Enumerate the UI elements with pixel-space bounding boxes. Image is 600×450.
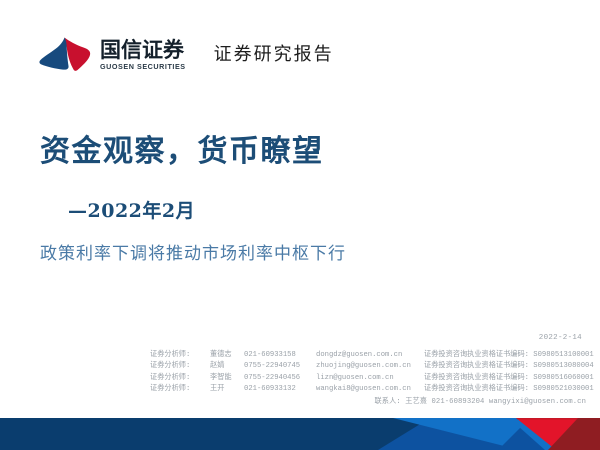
logo-wordmark: 国信证券 GUOSEN SECURITIES bbox=[100, 39, 186, 71]
page-title: 资金观察，货币瞭望 bbox=[40, 126, 324, 170]
analyst-email[interactable]: lizn@guosen.com.cn bbox=[316, 373, 424, 384]
analyst-role: 证券分析师: bbox=[150, 373, 210, 384]
contact-name: 王艺熹 bbox=[405, 398, 427, 406]
page-subtitle: —2022年2月 bbox=[68, 196, 195, 223]
analyst-name: 王开 bbox=[210, 384, 244, 395]
analyst-phone: 0755-22940456 bbox=[244, 373, 316, 384]
analyst-email[interactable]: wangkai8@guosen.com.cn bbox=[316, 384, 424, 395]
guosen-mountain-logo-icon bbox=[38, 35, 94, 75]
analyst-cert-label: 证券投资咨询执业资格证书编码: bbox=[424, 385, 529, 393]
bottom-decorative-band bbox=[0, 418, 600, 450]
analyst-cert: 证券投资咨询执业资格证书编码: S0980513080004 bbox=[424, 361, 594, 372]
analyst-row: 证券分析师: 李智能 0755-22940456 lizn@guosen.com… bbox=[150, 373, 586, 384]
logo-name-cn: 国信证券 bbox=[100, 39, 186, 61]
analyst-cert-label: 证券投资咨询执业资格证书编码: bbox=[424, 362, 529, 370]
analyst-role: 证券分析师: bbox=[150, 384, 210, 395]
analyst-cert-number: S0980521030001 bbox=[533, 385, 593, 393]
analyst-row: 证券分析师: 董德志 021-60933158 dongdz@guosen.co… bbox=[150, 350, 586, 361]
analyst-phone: 0755-22940745 bbox=[244, 361, 316, 372]
logo-name-en: GUOSEN SECURITIES bbox=[100, 62, 186, 71]
analyst-cert-number: S0980513080004 bbox=[533, 362, 593, 370]
analyst-cert: 证券投资咨询执业资格证书编码: S0980513100001 bbox=[424, 350, 594, 361]
analyst-name: 董德志 bbox=[210, 350, 244, 361]
analyst-row: 证券分析师: 王开 021-60933132 wangkai8@guosen.c… bbox=[150, 384, 586, 395]
analyst-role: 证券分析师: bbox=[150, 350, 210, 361]
analyst-email[interactable]: dongdz@guosen.com.cn bbox=[316, 350, 424, 361]
analyst-role: 证券分析师: bbox=[150, 361, 210, 372]
analyst-phone: 021-60933158 bbox=[244, 350, 316, 361]
contact-phone: 021-60893204 bbox=[432, 398, 485, 406]
analyst-cert-number: S0980516060001 bbox=[533, 374, 593, 382]
analyst-email[interactable]: zhuojing@guosen.com.cn bbox=[316, 361, 424, 372]
analyst-row: 证券分析师: 赵婧 0755-22940745 zhuojing@guosen.… bbox=[150, 361, 586, 372]
contact-role: 联系人: bbox=[375, 398, 401, 406]
analyst-cert: 证券投资咨询执业资格证书编码: S0980516060001 bbox=[424, 373, 594, 384]
analyst-list: 证券分析师: 董德志 021-60933158 dongdz@guosen.co… bbox=[150, 350, 586, 396]
cover-header: 国信证券 GUOSEN SECURITIES 证券研究报告 bbox=[38, 33, 334, 77]
analyst-name: 李智能 bbox=[210, 373, 244, 384]
contact-row: 联系人: 王艺熹 021-60893204 wangyixi@guosen.co… bbox=[375, 396, 586, 406]
page-tagline: 政策利率下调将推动市场利率中枢下行 bbox=[40, 239, 346, 264]
contact-email[interactable]: wangyixi@guosen.com.cn bbox=[489, 398, 586, 406]
analyst-cert: 证券投资咨询执业资格证书编码: S0980521030001 bbox=[424, 384, 594, 395]
report-kind-label: 证券研究报告 bbox=[214, 40, 334, 70]
analyst-cert-label: 证券投资咨询执业资格证书编码: bbox=[424, 351, 529, 359]
report-date: 2022-2-14 bbox=[539, 334, 582, 342]
analyst-phone: 021-60933132 bbox=[244, 384, 316, 395]
report-cover-page: 国信证券 GUOSEN SECURITIES 证券研究报告 资金观察，货币瞭望 … bbox=[0, 0, 600, 450]
analyst-name: 赵婧 bbox=[210, 361, 244, 372]
analyst-cert-number: S0980513100001 bbox=[533, 351, 593, 359]
analyst-cert-label: 证券投资咨询执业资格证书编码: bbox=[424, 374, 529, 382]
